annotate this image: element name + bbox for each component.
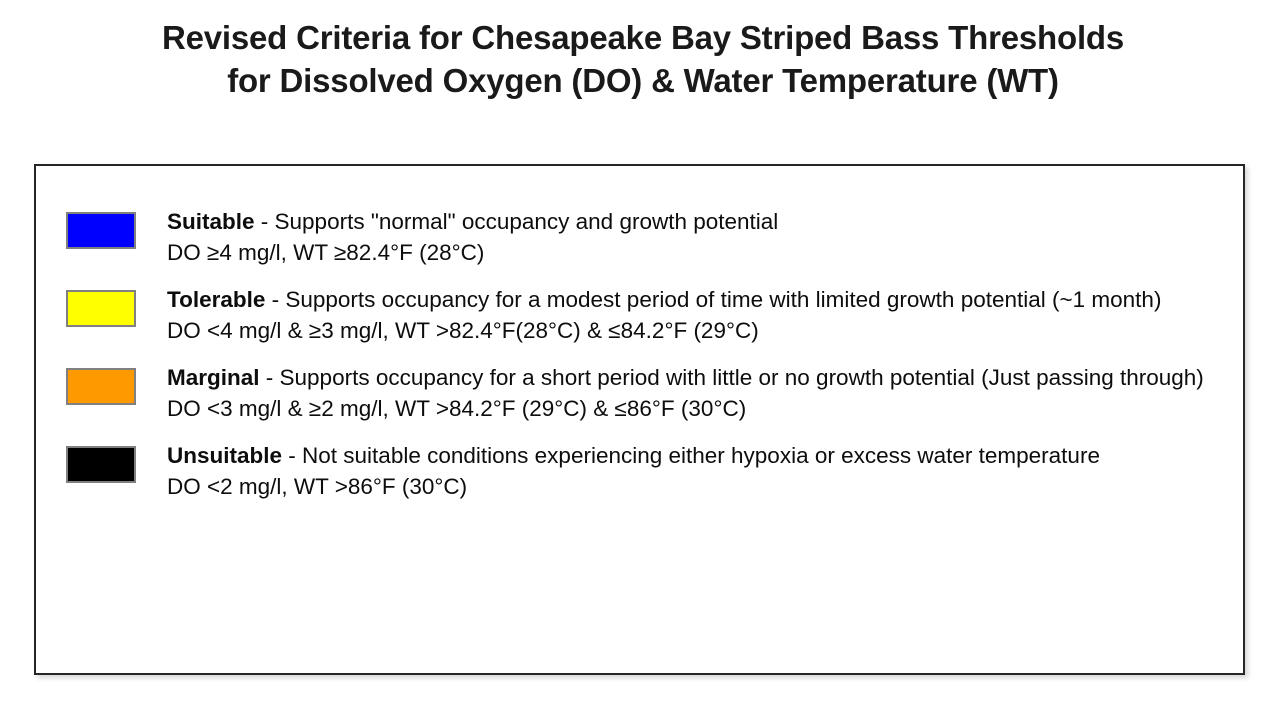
legend-description-marginal: - Supports occupancy for a short period …	[260, 365, 1204, 390]
page-title-line-2: for Dissolved Oxygen (DO) & Water Temper…	[0, 59, 1286, 102]
legend-values-marginal: DO <3 mg/l & ≥2 mg/l, WT >84.2°F (29°C) …	[167, 393, 1229, 424]
legend-description-tolerable: - Supports occupancy for a modest period…	[265, 287, 1161, 312]
color-swatch-unsuitable	[66, 446, 136, 483]
legend-item-tolerable: Tolerable - Supports occupancy for a mod…	[36, 284, 1243, 346]
legend-description-suitable: - Supports "normal" occupancy and growth…	[255, 209, 779, 234]
legend-item-marginal: Marginal - Supports occupancy for a shor…	[36, 362, 1243, 424]
legend-box: Suitable - Supports "normal" occupancy a…	[34, 164, 1245, 675]
legend-values-suitable: DO ≥4 mg/l, WT ≥82.4°F (28°C)	[167, 237, 1229, 268]
page-title-line-1: Revised Criteria for Chesapeake Bay Stri…	[0, 16, 1286, 59]
page-title: Revised Criteria for Chesapeake Bay Stri…	[0, 16, 1286, 102]
color-swatch-tolerable	[66, 290, 136, 327]
legend-description-unsuitable: - Not suitable conditions experiencing e…	[282, 443, 1100, 468]
legend-values-unsuitable: DO <2 mg/l, WT >86°F (30°C)	[167, 471, 1229, 502]
color-swatch-marginal	[66, 368, 136, 405]
color-swatch-suitable	[66, 212, 136, 249]
legend-text-marginal: Marginal - Supports occupancy for a shor…	[136, 362, 1229, 424]
legend-values-tolerable: DO <4 mg/l & ≥3 mg/l, WT >82.4°F(28°C) &…	[167, 315, 1229, 346]
legend-item-suitable: Suitable - Supports "normal" occupancy a…	[36, 206, 1243, 268]
legend-term-tolerable: Tolerable	[167, 287, 265, 312]
legend-term-suitable: Suitable	[167, 209, 255, 234]
slide: Revised Criteria for Chesapeake Bay Stri…	[0, 0, 1286, 716]
legend-term-marginal: Marginal	[167, 365, 260, 390]
legend-text-suitable: Suitable - Supports "normal" occupancy a…	[136, 206, 1229, 268]
legend-list: Suitable - Supports "normal" occupancy a…	[36, 166, 1243, 673]
legend-term-unsuitable: Unsuitable	[167, 443, 282, 468]
legend-text-unsuitable: Unsuitable - Not suitable conditions exp…	[136, 440, 1229, 502]
legend-text-tolerable: Tolerable - Supports occupancy for a mod…	[136, 284, 1229, 346]
legend-item-unsuitable: Unsuitable - Not suitable conditions exp…	[36, 440, 1243, 502]
